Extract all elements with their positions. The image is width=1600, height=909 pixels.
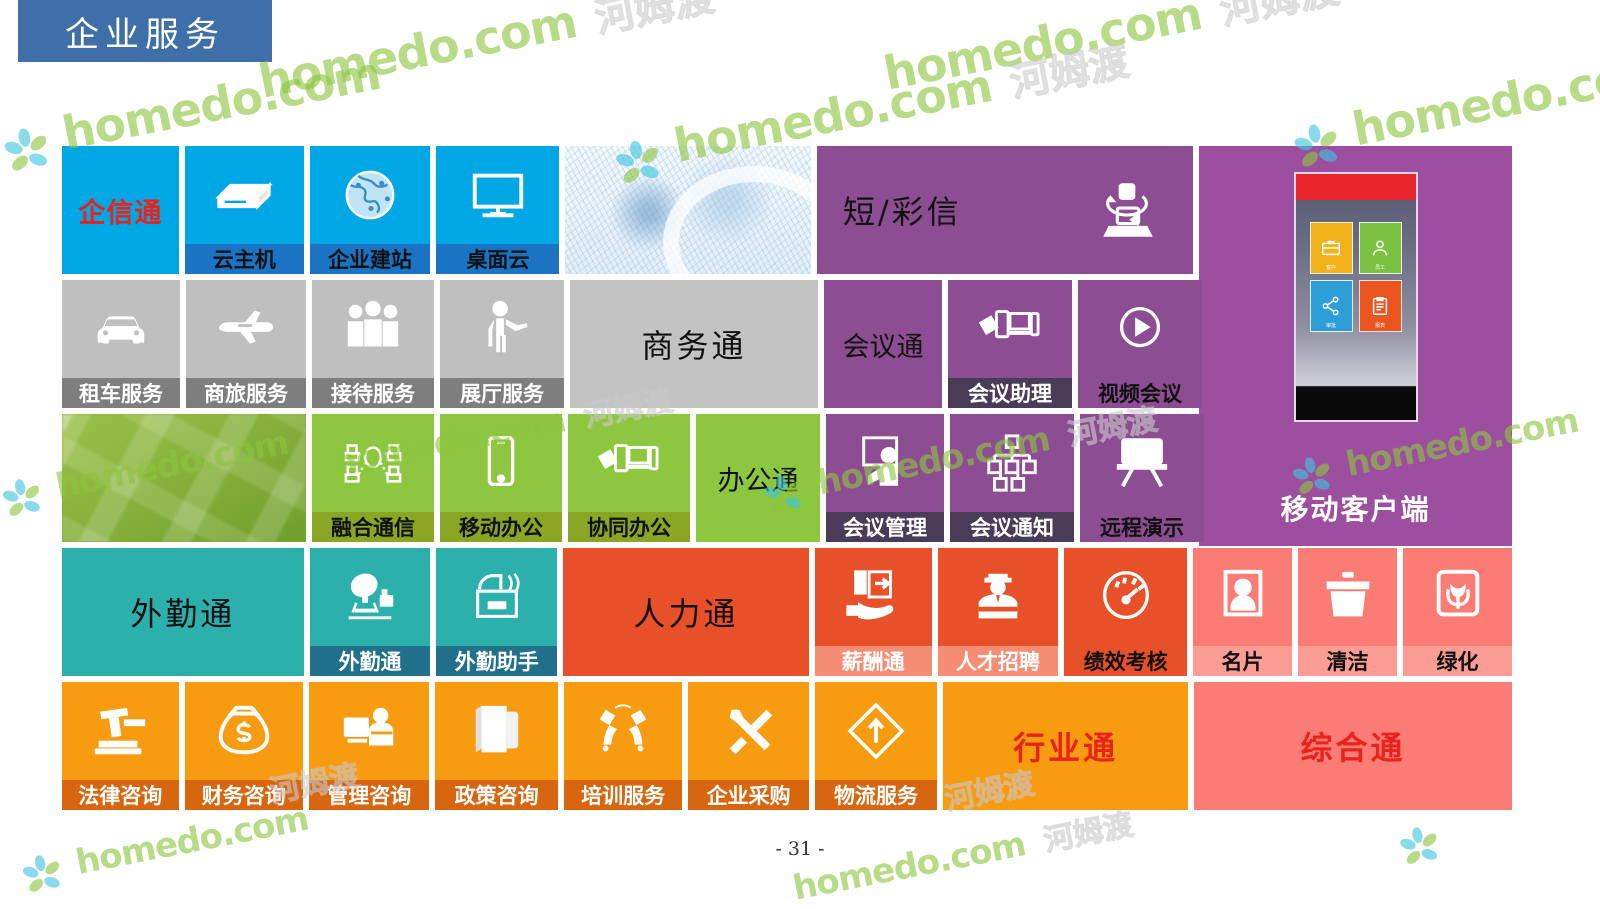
tile-label: 办公通 [696, 414, 820, 542]
tile-recruitment[interactable]: 人才招聘 [938, 548, 1059, 676]
tile-mgmt-consult[interactable]: 管理咨询 [309, 682, 429, 810]
tile-fieldwork[interactable]: 外勤通 [310, 548, 431, 676]
tile-label: 政策咨询 [435, 780, 557, 810]
projector-icon [1080, 414, 1204, 512]
tile-label: 外勤助手 [436, 646, 557, 676]
tile-label: 法律咨询 [62, 780, 179, 810]
tile-policy-consult[interactable]: 政策咨询 [435, 682, 557, 810]
phone-app-label: 员工 [1360, 264, 1401, 271]
briefcase-icon [1320, 237, 1342, 259]
tile-label: 会议通知 [950, 512, 1074, 542]
tile-label: 接待服务 [312, 378, 434, 408]
watermark-brand-latin: homedo.com [879, 0, 1206, 101]
tile-desktop-cloud[interactable]: 桌面云 [436, 146, 559, 274]
tile-label: 短/彩信 [843, 146, 1043, 274]
car-icon [62, 280, 180, 378]
tile-label: 会议管理 [826, 512, 944, 542]
tile-legal-consult[interactable]: 法律咨询 [62, 682, 179, 810]
tile-group-sms[interactable]: 短/彩信 [817, 146, 1193, 274]
page-number: - 31 - [0, 838, 1600, 860]
tile-cleaning[interactable]: 清洁 [1298, 548, 1397, 676]
tile-label: 管理咨询 [309, 780, 429, 810]
road-sign-icon [815, 682, 937, 780]
people-network-icon [312, 414, 434, 512]
row-2: 租车服务 商旅服务 接待服务 [62, 280, 1512, 408]
satellite-dish-icon [310, 548, 431, 646]
tile-label: 协同办公 [568, 512, 690, 542]
tile-label: 名片 [1193, 646, 1292, 676]
service-tile-board: 企信通 云主机 [62, 146, 1512, 836]
id-card-icon [1193, 548, 1292, 646]
user-icon [1369, 237, 1391, 259]
tile-payroll[interactable]: 薪酬通 [815, 548, 932, 676]
tile-industry-pass[interactable]: 行业通 [943, 682, 1188, 810]
tile-label: 外勤通 [310, 646, 431, 676]
tulip-icon [1403, 548, 1512, 646]
tile-label: 培训服务 [564, 780, 682, 810]
tile-greening[interactable]: 绿化 [1403, 548, 1512, 676]
tile-label: 清洁 [1298, 646, 1397, 676]
tile-label: 会议助理 [948, 378, 1072, 408]
tile-qixintong[interactable]: 企信通 [62, 146, 179, 274]
three-people-icon [312, 280, 434, 378]
tile-procurement[interactable]: 企业采购 [688, 682, 808, 810]
devices-icon [568, 414, 690, 512]
watermark: homedo.com 河姆渡 [254, 0, 718, 110]
tile-label: 综合通 [1194, 682, 1512, 810]
tile-label: 商务通 [570, 280, 818, 408]
tile-label: 薪酬通 [815, 646, 932, 676]
tile-label: 视频会议 [1078, 378, 1202, 408]
tile-label: 展厅服务 [440, 378, 564, 408]
phone-app-employee[interactable]: 员工 [1359, 222, 1402, 274]
tile-meeting-pass[interactable]: 会议通 [824, 280, 942, 408]
row-5: 法律咨询 财务咨询 管理咨询 [62, 682, 1512, 810]
page-title-banner: 企业服务 [18, 0, 272, 62]
tile-label: 云主机 [185, 244, 304, 274]
phone-app-label: 客户 [1311, 264, 1352, 271]
tile-business-card[interactable]: 名片 [1193, 548, 1292, 676]
tile-label: 财务咨询 [185, 780, 303, 810]
tile-label: 绩效考核 [1064, 646, 1187, 676]
watermark-brand-latin: homedo.com [790, 824, 1029, 908]
folder-icon [435, 682, 557, 780]
businessman-icon [938, 548, 1059, 646]
network-mesh-image [565, 146, 811, 274]
tile-website-build[interactable]: 企业建站 [310, 146, 431, 274]
monitor-icon [436, 146, 559, 244]
phone-statusbar [1296, 174, 1416, 200]
tile-fieldwork-assistant[interactable]: 外勤助手 [436, 548, 557, 676]
tile-label: 租车服务 [62, 378, 180, 408]
gauge-icon [1064, 548, 1187, 646]
tile-business-pass[interactable]: 商务通 [570, 280, 818, 408]
tile-label: 人才招聘 [938, 646, 1059, 676]
row-1: 企信通 云主机 [62, 146, 1512, 274]
tile-label: 行业通 [943, 682, 1188, 810]
tile-label: 企业建站 [310, 244, 431, 274]
tile-label: 人力通 [563, 548, 809, 676]
scan-box-icon [436, 548, 557, 646]
tile-meeting-assistant[interactable]: 会议助理 [948, 280, 1072, 408]
tile-label: 商旅服务 [186, 378, 306, 408]
tile-label: 桌面云 [436, 244, 559, 274]
tile-business-travel[interactable]: 商旅服务 [186, 280, 306, 408]
tile-label: 会议通 [824, 280, 942, 408]
phone-app-customer[interactable]: 客户 [1310, 222, 1353, 274]
watermark-brand-cn: 河姆渡 [1006, 38, 1133, 106]
watermark-brand-latin: homedo.com [1348, 42, 1600, 157]
consultant-icon [309, 682, 429, 780]
gavel-icon [62, 682, 179, 780]
pay-hand-icon [815, 548, 932, 646]
trash-bin-icon [1298, 548, 1397, 646]
tile-fieldwork-pass[interactable]: 外勤通 [62, 548, 304, 676]
tile-car-rental[interactable]: 租车服务 [62, 280, 180, 408]
tile-label: 移动办公 [440, 512, 562, 542]
tile-meeting-notice[interactable]: 会议通知 [950, 414, 1074, 542]
tile-collab-office[interactable]: 协同办公 [568, 414, 690, 542]
tile-finance-consult[interactable]: 财务咨询 [185, 682, 303, 810]
tile-label: 绿化 [1403, 646, 1512, 676]
watermark-brand-cn: 河姆渡 [591, 0, 718, 42]
tile-training[interactable]: 培训服务 [564, 682, 682, 810]
money-bag-icon [185, 682, 303, 780]
flower-logo-icon [0, 124, 55, 182]
watermark-brand-latin: homedo.com [254, 0, 581, 109]
watermark-brand-latin: homedo.com [58, 46, 385, 161]
server-icon [185, 146, 304, 244]
tile-label: 远程演示 [1080, 512, 1204, 542]
tile-mobile-office[interactable]: 移动办公 [440, 414, 562, 542]
devices-icon [948, 280, 1072, 378]
airplane-icon [186, 280, 306, 378]
tile-exhibition[interactable]: 展厅服务 [440, 280, 564, 408]
tile-label: 融合通信 [312, 512, 434, 542]
tools-icon [688, 682, 808, 780]
tile-comprehensive-pass[interactable]: 综合通 [1194, 682, 1512, 810]
tile-label: 外勤通 [62, 548, 304, 676]
tile-meeting-mgmt[interactable]: 会议管理 [826, 414, 944, 542]
tile-reception[interactable]: 接待服务 [312, 280, 434, 408]
tile-label: 物流服务 [815, 780, 937, 810]
tile-hr-pass[interactable]: 人力通 [563, 548, 809, 676]
presenter-icon [826, 414, 944, 512]
smartphone-icon [440, 414, 562, 512]
org-chart-icon [950, 414, 1074, 512]
tile-remote-demo[interactable]: 远程演示 [1080, 414, 1204, 542]
tile-logistics[interactable]: 物流服务 [815, 682, 937, 810]
play-circle-icon [1078, 280, 1202, 378]
green-squares-image [62, 414, 306, 542]
watermark-brand-cn: 河姆渡 [1216, 0, 1343, 34]
tile-office-pass[interactable]: 办公通 [696, 414, 820, 542]
guide-person-icon [440, 280, 564, 378]
sms-sync-icon [1079, 146, 1175, 274]
page-title: 企业服务 [65, 7, 225, 56]
training-icon [564, 682, 682, 780]
globe-network-icon [310, 146, 431, 244]
tile-performance[interactable]: 绩效考核 [1064, 548, 1187, 676]
tile-unified-comm[interactable]: 融合通信 [312, 414, 434, 542]
tile-video-conference[interactable]: 视频会议 [1078, 280, 1202, 408]
watermark: homedo.com 河姆渡 [879, 0, 1343, 102]
tile-cloud-host[interactable]: 云主机 [185, 146, 304, 274]
tile-label: 企信通 [62, 146, 179, 274]
row-3: 融合通信 移动办公 协同办公 [62, 414, 1512, 542]
tile-label: 企业采购 [688, 780, 808, 810]
row-4: 外勤通 外勤通 [62, 548, 1512, 676]
flower-logo-icon [0, 475, 47, 526]
